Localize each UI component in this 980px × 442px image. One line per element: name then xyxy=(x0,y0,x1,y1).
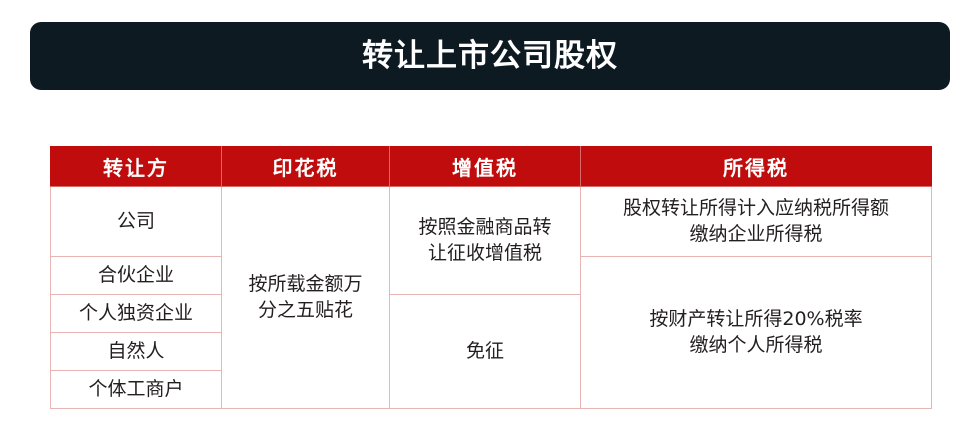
table-row: 公司 按所载金额万 分之五贴花 按照金融商品转 让征收增值税 股权转让所得计入应… xyxy=(51,187,932,257)
tax-table-container: 转让方 印花税 增值税 所得税 公司 按所载金额万 分之五贴花 按照金融商品转 … xyxy=(50,146,931,406)
stamp-tax-line-1: 按所载金额万 xyxy=(226,272,385,297)
title-banner: 转让上市公司股权 xyxy=(30,22,950,90)
income-tax-cell-corporate: 股权转让所得计入应纳税所得额 缴纳企业所得税 xyxy=(581,187,932,257)
transferor-cell: 公司 xyxy=(51,187,222,257)
income-tax-individual-line-1: 按财产转让所得20%税率 xyxy=(585,307,927,332)
stamp-tax-cell: 按所载金额万 分之五贴花 xyxy=(222,187,390,409)
transferor-cell: 个体工商户 xyxy=(51,371,222,409)
income-tax-individual-line-2: 缴纳个人所得税 xyxy=(585,333,927,358)
column-header-income-tax: 所得税 xyxy=(581,147,932,187)
column-header-vat: 增值税 xyxy=(390,147,581,187)
page-title: 转让上市公司股权 xyxy=(362,41,618,72)
vat-exempt-line-1: 免征 xyxy=(394,339,576,364)
transferor-cell: 自然人 xyxy=(51,333,222,371)
vat-cell-taxable: 按照金融商品转 让征收增值税 xyxy=(390,187,581,295)
column-header-stamp-tax: 印花税 xyxy=(222,147,390,187)
income-tax-cell-individual: 按财产转让所得20%税率 缴纳个人所得税 xyxy=(581,257,932,409)
vat-line-2: 让征收增值税 xyxy=(394,241,576,266)
vat-cell-exempt: 免征 xyxy=(390,295,581,409)
vat-line-1: 按照金融商品转 xyxy=(394,215,576,240)
transferor-cell: 合伙企业 xyxy=(51,257,222,295)
column-header-transferor: 转让方 xyxy=(51,147,222,187)
tax-comparison-table: 转让方 印花税 增值税 所得税 公司 按所载金额万 分之五贴花 按照金融商品转 … xyxy=(50,146,932,409)
income-tax-corporate-line-2: 缴纳企业所得税 xyxy=(585,222,927,247)
transferor-cell: 个人独资企业 xyxy=(51,295,222,333)
table-header-row: 转让方 印花税 增值税 所得税 xyxy=(51,147,932,187)
income-tax-corporate-line-1: 股权转让所得计入应纳税所得额 xyxy=(585,196,927,221)
stamp-tax-line-2: 分之五贴花 xyxy=(226,298,385,323)
